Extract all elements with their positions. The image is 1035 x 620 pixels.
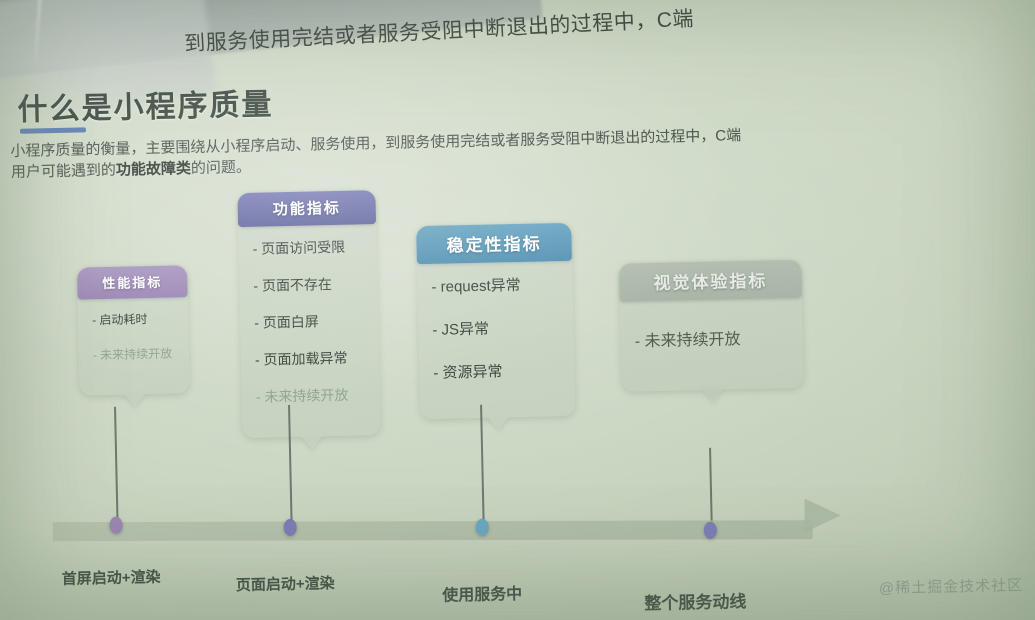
subtitle-line-2-prefix: 用户可能遇到的 (11, 162, 116, 181)
card-performance-body: - 启动耗时 - 未来持续开放 (78, 297, 190, 395)
card-function-header: 功能指标 (237, 190, 376, 227)
card-function: 功能指标 - 页面访问受限 - 页面不存在 - 页面白屏 - 页面加载异常 - … (237, 190, 380, 438)
overflow-subtitle-line: 到服务使用完结或者服务受阻中断退出的过程中，C端 (184, 0, 1035, 58)
timeline-label-2: 使用服务中 (442, 580, 523, 606)
connector-stem-0 (114, 407, 119, 525)
connector-stem-2 (480, 405, 485, 523)
card-stability-item-2: - 资源异常 (433, 359, 560, 383)
card-stability-body: - request异常 - JS异常 - 资源异常 (417, 261, 575, 419)
card-performance-item-0: - 启动耗时 (92, 309, 174, 328)
card-function-tail (301, 435, 323, 449)
timeline-label-3: 整个服务动线 (644, 587, 747, 614)
title-underline (20, 127, 86, 133)
card-function-body: - 页面访问受限 - 页面不存在 - 页面白屏 - 页面加载异常 - 未来持续开… (238, 224, 381, 438)
card-stability: 稳定性指标 - request异常 - JS异常 - 资源异常 (416, 223, 575, 419)
card-function-item-3: - 页面加载异常 (255, 347, 365, 369)
card-performance-header: 性能指标 (77, 265, 188, 299)
card-visual-experience: 视觉体验指标 - 未来持续开放 (619, 260, 804, 392)
watermark: @稀土掘金技术社区 (879, 574, 1024, 598)
card-stability-header: 稳定性指标 (416, 223, 572, 264)
timeline-label-0: 首屏启动+渲染 (62, 566, 161, 589)
card-visual-experience-tail (702, 389, 724, 403)
card-visual-experience-header: 视觉体验指标 (619, 260, 802, 302)
card-function-item-2: - 页面白屏 (254, 310, 364, 332)
connector-stem-3 (709, 448, 713, 528)
card-visual-experience-body: - 未来持续开放 (620, 298, 804, 392)
card-visual-experience-item-0: - 未来持续开放 (634, 324, 788, 351)
timeline-label-1: 页面启动+渲染 (236, 572, 335, 595)
timeline-dot-1 (284, 519, 297, 536)
card-function-item-1: - 页面不存在 (253, 273, 363, 295)
card-performance: 性能指标 - 启动耗时 - 未来持续开放 (77, 265, 190, 395)
subtitle-line-2-suffix: 的问题。 (191, 159, 251, 177)
timeline-bar (53, 520, 813, 541)
subtitle-block: 小程序质量的衡量，主要围绕从小程序启动、服务使用，到服务使用完结或者服务受阻中断… (10, 119, 1011, 183)
slide-content: 到服务使用完结或者服务受阻中断退出的过程中，C端 什么是小程序质量 小程序质量的… (0, 0, 1035, 620)
page-title: 什么是小程序质量 (17, 79, 274, 129)
subtitle-line-2-bold: 功能故障类 (116, 160, 191, 179)
card-stability-tail (487, 416, 509, 430)
timeline-arrow-head-icon (805, 498, 841, 532)
timeline-dot-0 (109, 517, 122, 534)
card-stability-item-0: - request异常 (431, 273, 558, 297)
card-performance-item-1: - 未来持续开放 (93, 344, 175, 363)
card-stability-item-1: - JS异常 (432, 316, 559, 340)
card-performance-tail (124, 393, 146, 407)
card-function-item-0: - 页面访问受限 (252, 236, 362, 258)
card-function-item-4: - 未来持续开放 (256, 384, 366, 406)
projected-slide-photo: 到服务使用完结或者服务受阻中断退出的过程中，C端 什么是小程序质量 小程序质量的… (0, 0, 1035, 620)
